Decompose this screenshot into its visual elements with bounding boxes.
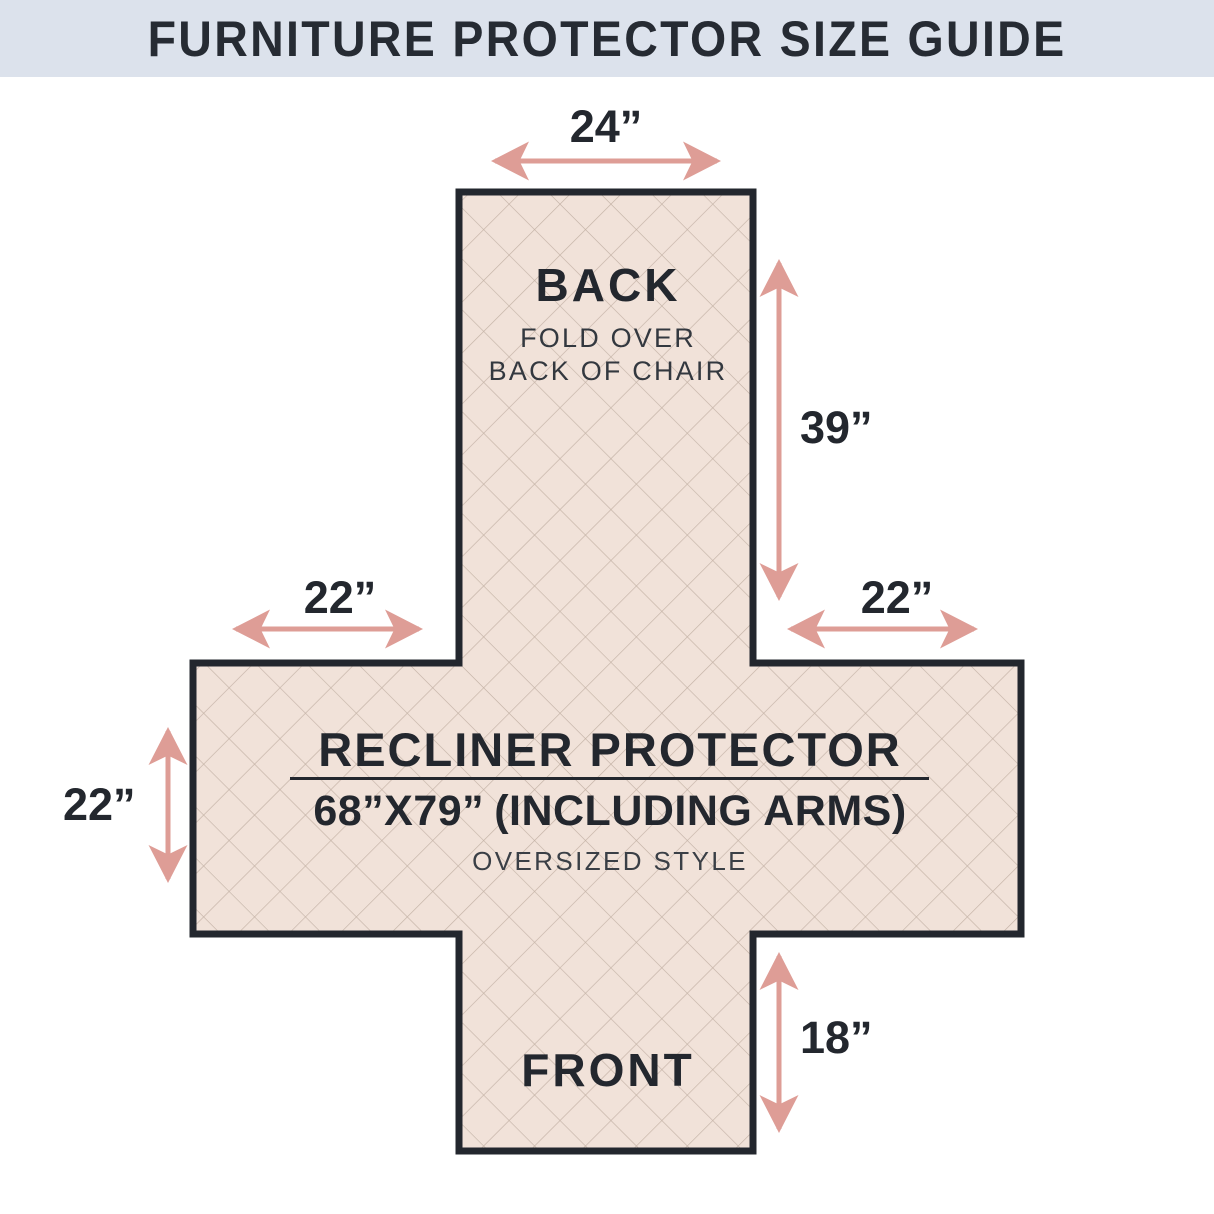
size-guide-infographic: FURNITURE PROTECTOR SIZE GUIDE	[0, 0, 1214, 1214]
body-panel-size-line: 68”X79”(INCLUDING ARMS)	[313, 790, 906, 833]
dimension-label-back-width: 24”	[570, 104, 643, 149]
back-panel-subtitle-line1: FOLD OVER	[520, 325, 696, 352]
protector-diagram	[0, 0, 1214, 1214]
dimension-label-left-arm-width: 22”	[304, 575, 377, 620]
dimension-label-back-height: 39”	[800, 405, 873, 450]
body-panel-size: 68”X79”	[313, 787, 484, 835]
body-panel-divider	[290, 777, 929, 780]
dimension-label-arm-depth: 22”	[63, 782, 136, 827]
back-panel-title: BACK	[536, 262, 681, 308]
front-panel-title: FRONT	[521, 1047, 694, 1093]
dimension-label-front-height: 18”	[800, 1015, 873, 1060]
body-panel-size-note: (INCLUDING ARMS)	[494, 787, 906, 835]
dimension-label-right-arm-width: 22”	[861, 575, 934, 620]
body-panel-title: RECLINER PROTECTOR	[318, 726, 902, 773]
back-panel-subtitle-line2: BACK OF CHAIR	[489, 358, 728, 385]
body-panel-style: OVERSIZED STYLE	[472, 848, 748, 874]
